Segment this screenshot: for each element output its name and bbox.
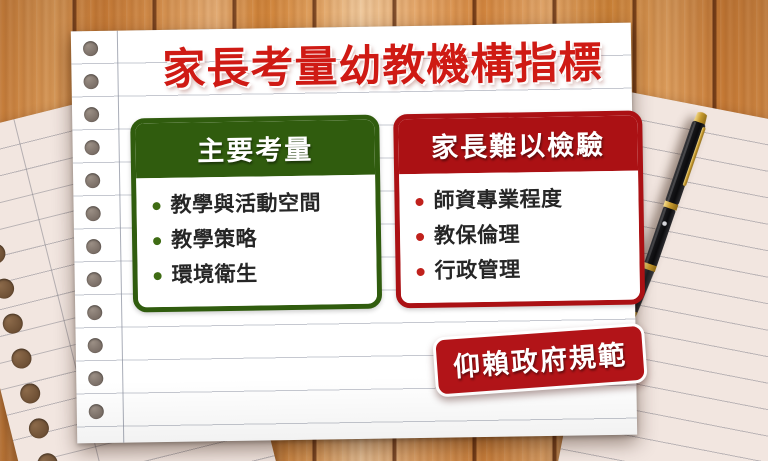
card-main-considerations-header: 主要考量: [135, 120, 375, 179]
card-hard-to-verify-list: 師資專業程度 教保倫理 行政管理: [411, 181, 634, 289]
list-item: 行政管理: [412, 250, 634, 288]
card-main-considerations-body: 教學與活動空間 教學策略 環境衛生: [136, 175, 377, 307]
main-note-sheet: 家長考量幼教機構指標 主要考量 教學與活動空間 教學策略 環境衛生 家長難以檢驗: [71, 23, 637, 444]
list-item: 教保倫理: [412, 215, 634, 253]
list-item: 教學與活動空間: [148, 185, 370, 223]
conclusion-banner: 仰賴政府規範: [432, 323, 648, 398]
card-hard-to-verify-body: 師資專業程度 教保倫理 行政管理: [399, 171, 640, 303]
card-hard-to-verify-header: 家長難以檢驗: [398, 116, 638, 175]
card-hard-to-verify: 家長難以檢驗 師資專業程度 教保倫理 行政管理: [393, 110, 645, 308]
cards-row: 主要考量 教學與活動空間 教學策略 環境衛生 家長難以檢驗 師資專業程度: [130, 110, 645, 312]
card-main-considerations: 主要考量 教學與活動空間 教學策略 環境衛生: [130, 115, 382, 313]
card-main-considerations-list: 教學與活動空間 教學策略 環境衛生: [148, 185, 371, 293]
list-item: 師資專業程度: [411, 181, 633, 219]
list-item: 環境衛生: [149, 254, 371, 292]
list-item: 教學策略: [149, 220, 371, 258]
conclusion-banner-label: 仰賴政府規範: [452, 333, 628, 384]
poster-content: 家長考量幼教機構指標 主要考量 教學與活動空間 教學策略 環境衛生 家長難以檢驗: [127, 23, 629, 443]
poster-scene: 家長考量幼教機構指標 主要考量 教學與活動空間 教學策略 環境衛生 家長難以檢驗: [0, 0, 768, 461]
page-title: 家長考量幼教機構指標: [127, 41, 638, 94]
